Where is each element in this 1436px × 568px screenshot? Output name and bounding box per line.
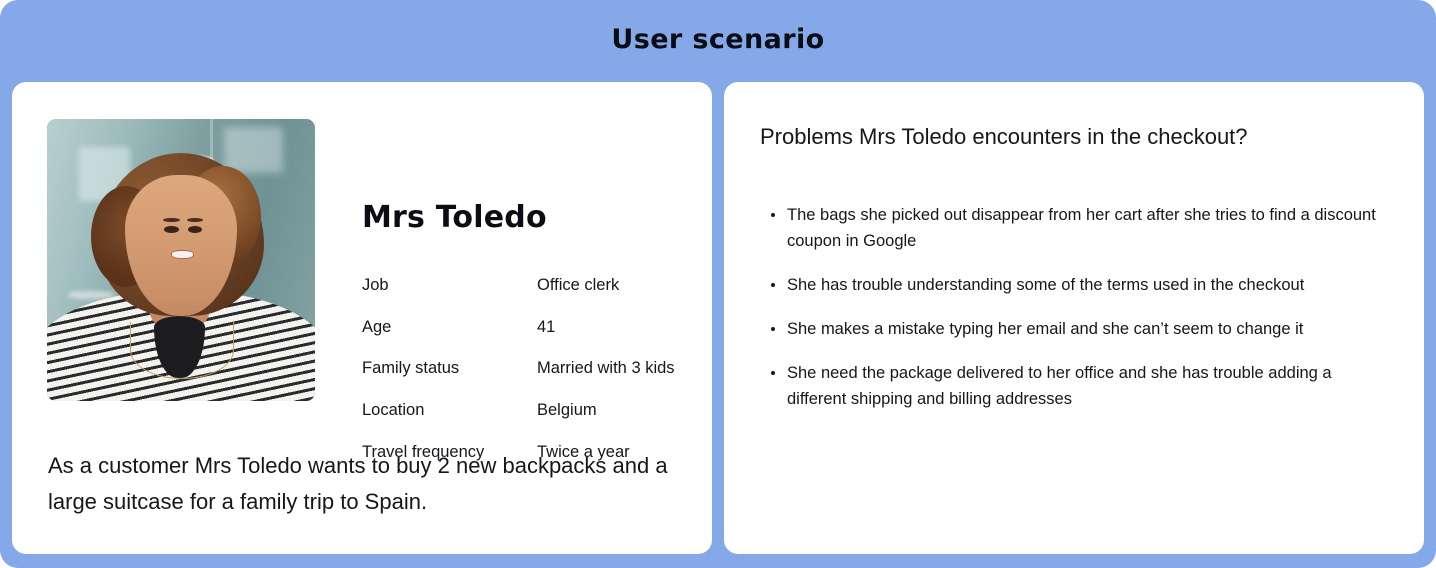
scenario-description: As a customer Mrs Toledo wants to buy 2 … <box>48 448 688 520</box>
attribute-row-family-status: Family status Married with 3 kids <box>362 359 702 377</box>
problems-card: Problems Mrs Toledo encounters in the ch… <box>724 82 1424 554</box>
user-scenario-frame: User scenario <box>0 0 1436 568</box>
photo-eye-right <box>188 226 203 233</box>
photo-necklace <box>130 322 234 379</box>
attribute-row-age: Age 41 <box>362 318 702 336</box>
attribute-label: Age <box>362 318 537 336</box>
attribute-value: Belgium <box>537 401 702 419</box>
attribute-label: Location <box>362 401 537 419</box>
attribute-value: Married with 3 kids <box>537 359 702 377</box>
photo-smile <box>171 250 195 258</box>
persona-photo <box>47 119 315 401</box>
problems-list: The bags she picked out disappear from h… <box>760 202 1390 430</box>
list-item: She has trouble understanding some of th… <box>760 272 1390 298</box>
photo-glass-reflection-b <box>224 127 283 172</box>
attribute-label: Family status <box>362 359 537 377</box>
page-title: User scenario <box>0 24 1436 55</box>
cards-row: Mrs Toledo Job Office clerk Age 41 Famil… <box>12 82 1424 554</box>
persona-name: Mrs Toledo <box>362 200 547 235</box>
photo-eyebrow-left <box>163 218 180 222</box>
attribute-value: Office clerk <box>537 276 702 294</box>
attribute-value: 41 <box>537 318 702 336</box>
photo-eyebrow-right <box>187 218 204 222</box>
list-item: She need the package delivered to her of… <box>760 360 1390 412</box>
list-item: She makes a mistake typing her email and… <box>760 316 1390 342</box>
attribute-row-job: Job Office clerk <box>362 276 702 294</box>
problems-title: Problems Mrs Toledo encounters in the ch… <box>760 124 1248 150</box>
attribute-row-location: Location Belgium <box>362 401 702 419</box>
list-item: The bags she picked out disappear from h… <box>760 202 1390 254</box>
photo-eye-left <box>164 226 179 233</box>
persona-header: Mrs Toledo Job Office clerk Age 41 Famil… <box>12 82 712 412</box>
persona-card: Mrs Toledo Job Office clerk Age 41 Famil… <box>12 82 712 554</box>
attribute-label: Job <box>362 276 537 294</box>
